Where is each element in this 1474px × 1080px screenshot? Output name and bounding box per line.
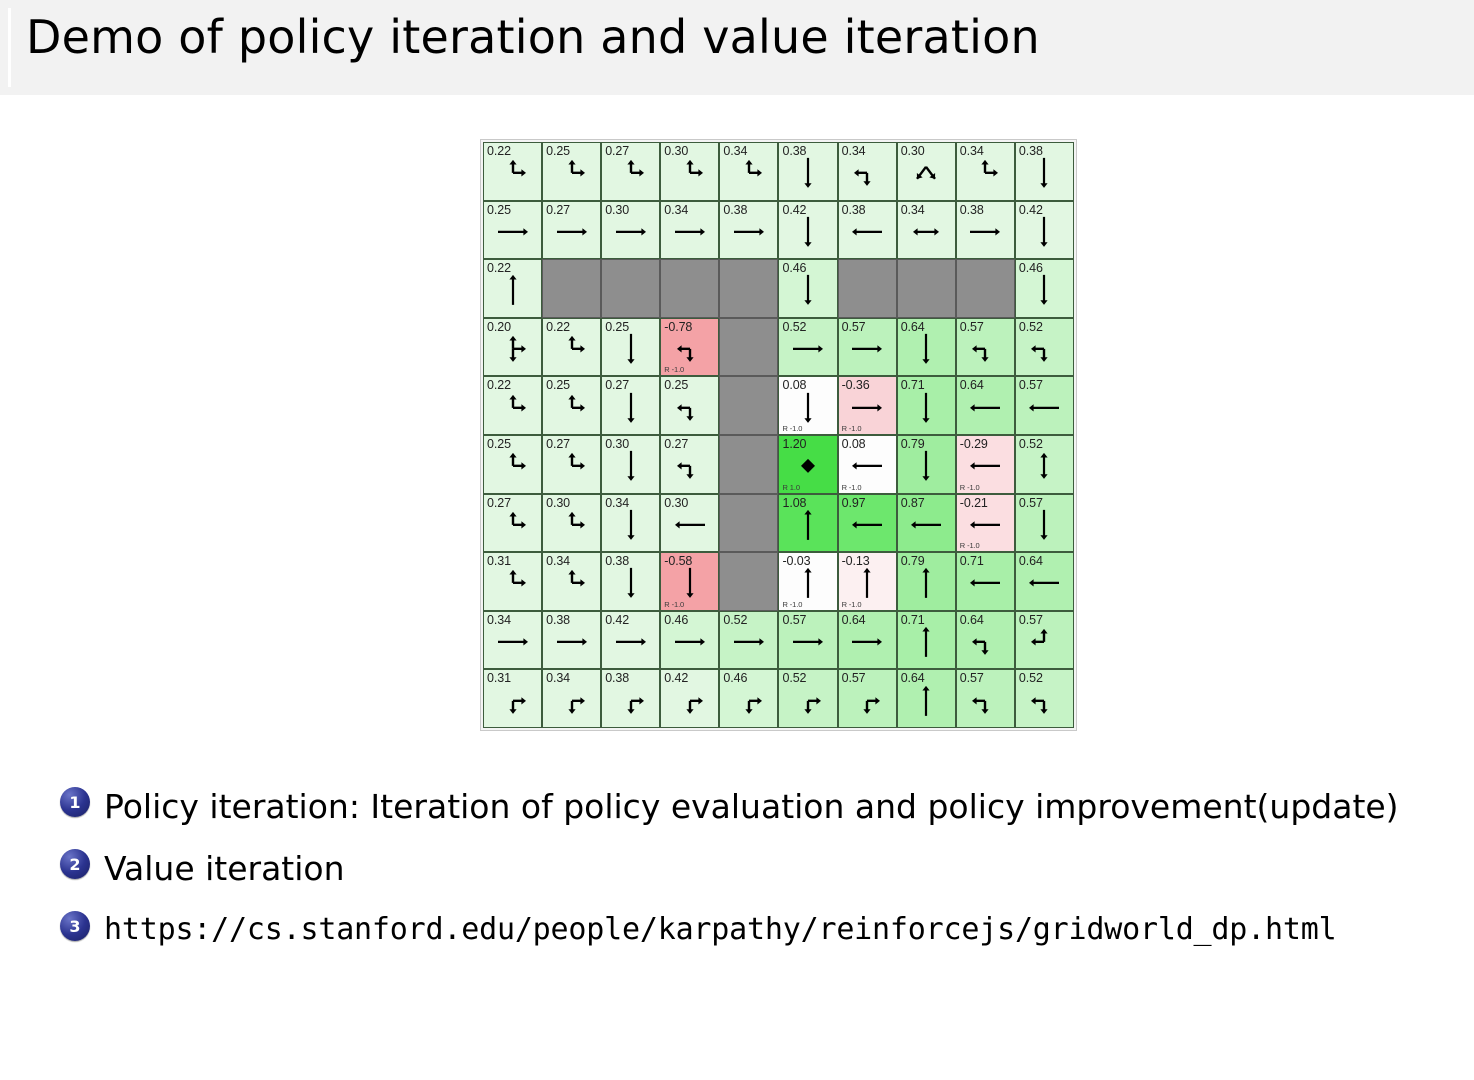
grid-cell[interactable]: 0.79 <box>897 552 956 611</box>
grid-cell[interactable]: -0.36R -1.0 <box>838 376 897 435</box>
grid-cell[interactable]: 0.30 <box>660 142 719 201</box>
cell-value: -0.13 <box>842 554 870 568</box>
cell-reward-label: R -1.0 <box>842 483 862 492</box>
cell-value: 0.31 <box>487 671 511 685</box>
grid-cell[interactable]: -0.13R -1.0 <box>838 552 897 611</box>
cell-value: 0.30 <box>605 437 629 451</box>
grid-cell[interactable]: 0.46 <box>778 259 837 318</box>
cell-value: 0.57 <box>782 613 806 627</box>
list-item: 1Policy iteration: Iteration of policy e… <box>60 778 1460 836</box>
cell-value: 0.25 <box>487 203 511 217</box>
grid-cell[interactable]: 0.42 <box>1015 201 1074 260</box>
cell-value: 0.25 <box>546 144 570 158</box>
cell-value: 0.22 <box>487 261 511 275</box>
grid-cell[interactable]: 0.64 <box>956 611 1015 670</box>
cell-value: 0.42 <box>782 203 806 217</box>
grid-cell[interactable]: 0.34 <box>542 669 601 728</box>
grid-cell[interactable]: -0.58R -1.0 <box>660 552 719 611</box>
cell-value: -0.29 <box>960 437 988 451</box>
gridworld-grid[interactable]: 0.220.250.270.300.340.380.340.300.340.38… <box>483 142 1074 728</box>
grid-cell[interactable]: 0.46 <box>660 611 719 670</box>
grid-cell[interactable]: -0.78R -1.0 <box>660 318 719 377</box>
cell-value: 0.57 <box>1019 378 1043 392</box>
grid-cell[interactable]: 0.64 <box>897 318 956 377</box>
cell-value: 0.52 <box>1019 437 1043 451</box>
grid-cell[interactable]: 0.57 <box>956 318 1015 377</box>
grid-cell[interactable]: 0.46 <box>1015 259 1074 318</box>
cell-value: 0.57 <box>842 671 866 685</box>
cell-value: -0.03 <box>782 554 810 568</box>
cell-reward-label: R -1.0 <box>664 365 684 374</box>
grid-cell[interactable]: 0.57 <box>778 611 837 670</box>
cell-value: 0.64 <box>901 671 925 685</box>
cell-value: 0.79 <box>901 554 925 568</box>
cell-value: 0.30 <box>664 496 688 510</box>
grid-cell-wall[interactable] <box>719 435 778 494</box>
cell-value: 0.57 <box>1019 496 1043 510</box>
gridworld-visualization[interactable]: 0.220.250.270.300.340.380.340.300.340.38… <box>480 139 1077 731</box>
grid-cell[interactable]: 0.22 <box>483 142 542 201</box>
grid-cell[interactable]: 0.52 <box>1015 435 1074 494</box>
grid-cell[interactable]: 0.79 <box>897 435 956 494</box>
cell-value: 0.52 <box>1019 320 1043 334</box>
cell-value: 0.30 <box>605 203 629 217</box>
grid-cell[interactable]: 0.25 <box>660 376 719 435</box>
grid-cell[interactable]: 0.87 <box>897 494 956 553</box>
cell-value: -0.58 <box>664 554 692 568</box>
cell-value: 0.87 <box>901 496 925 510</box>
cell-value: 0.25 <box>605 320 629 334</box>
grid-cell[interactable]: 0.27 <box>542 201 601 260</box>
cell-value: 0.27 <box>664 437 688 451</box>
cell-value: 0.31 <box>487 554 511 568</box>
grid-cell[interactable]: 0.38 <box>601 669 660 728</box>
grid-cell[interactable]: 0.57 <box>1015 494 1074 553</box>
grid-cell[interactable]: 0.57 <box>1015 376 1074 435</box>
cell-value: 0.42 <box>1019 203 1043 217</box>
cell-reward-label: R -1.0 <box>782 600 802 609</box>
cell-reward-label: R -1.0 <box>960 541 980 550</box>
cell-value: -0.21 <box>960 496 988 510</box>
grid-cell-wall[interactable] <box>601 259 660 318</box>
list-item: 2Value iteration <box>60 840 1460 898</box>
cell-value: 0.46 <box>1019 261 1043 275</box>
cell-value: 0.38 <box>605 671 629 685</box>
cell-value: 0.38 <box>960 203 984 217</box>
grid-cell[interactable]: 0.27 <box>601 142 660 201</box>
cell-value: 0.42 <box>664 671 688 685</box>
grid-cell[interactable]: 0.52 <box>778 318 837 377</box>
cell-value: 0.71 <box>960 554 984 568</box>
grid-cell[interactable]: 0.38 <box>542 611 601 670</box>
cell-value: 0.27 <box>546 437 570 451</box>
bullet-text: Value iteration <box>104 840 345 898</box>
cell-value: 0.08 <box>842 437 866 451</box>
grid-cell[interactable]: 0.31 <box>483 552 542 611</box>
grid-cell[interactable]: 0.25 <box>542 142 601 201</box>
cell-value: 0.34 <box>664 203 688 217</box>
grid-cell[interactable]: 0.57 <box>956 669 1015 728</box>
grid-cell[interactable]: 0.42 <box>778 201 837 260</box>
grid-cell[interactable]: 0.08R -1.0 <box>778 376 837 435</box>
grid-cell[interactable]: 0.27 <box>483 494 542 553</box>
grid-cell[interactable]: 0.30 <box>542 494 601 553</box>
grid-cell[interactable]: 0.31 <box>483 669 542 728</box>
bullet-number-badge: 2 <box>60 849 90 879</box>
grid-cell-wall[interactable] <box>660 259 719 318</box>
cell-value: 0.38 <box>782 144 806 158</box>
list-item: 3https://cs.stanford.edu/people/karpathy… <box>60 902 1460 958</box>
grid-cell[interactable]: 0.25 <box>542 376 601 435</box>
grid-cell[interactable]: 0.22 <box>542 318 601 377</box>
grid-cell[interactable]: 0.71 <box>897 376 956 435</box>
grid-cell-wall[interactable] <box>719 318 778 377</box>
bullet-number-badge: 3 <box>60 911 90 941</box>
grid-cell[interactable]: 0.38 <box>778 142 837 201</box>
cell-reward-label: R -1.0 <box>960 483 980 492</box>
cell-value: 1.20 <box>782 437 806 451</box>
cell-value: 0.57 <box>960 671 984 685</box>
cell-value: 1.08 <box>782 496 806 510</box>
cell-value: 0.34 <box>605 496 629 510</box>
grid-cell[interactable]: 0.57 <box>838 669 897 728</box>
cell-value: 0.42 <box>605 613 629 627</box>
grid-cell[interactable]: 0.34 <box>897 201 956 260</box>
cell-value: 0.64 <box>1019 554 1043 568</box>
grid-cell[interactable]: 0.25 <box>483 201 542 260</box>
cell-value: 0.57 <box>842 320 866 334</box>
cell-value: 0.34 <box>842 144 866 158</box>
grid-cell[interactable]: 0.30 <box>601 201 660 260</box>
grid-cell[interactable]: 0.34 <box>956 142 1015 201</box>
cell-value: 0.38 <box>842 203 866 217</box>
cell-value: 0.25 <box>546 378 570 392</box>
cell-value: 0.27 <box>605 378 629 392</box>
grid-cell[interactable]: 0.30 <box>897 142 956 201</box>
grid-cell[interactable]: 0.38 <box>838 201 897 260</box>
grid-cell[interactable]: 0.64 <box>956 376 1015 435</box>
grid-cell[interactable]: 0.34 <box>601 494 660 553</box>
cell-value: 0.57 <box>1019 613 1043 627</box>
cell-value: 0.25 <box>487 437 511 451</box>
grid-cell[interactable]: 0.25 <box>483 435 542 494</box>
cell-value: 0.38 <box>723 203 747 217</box>
cell-value: -0.36 <box>842 378 870 392</box>
cell-value: 0.34 <box>546 671 570 685</box>
grid-cell[interactable]: 1.08 <box>778 494 837 553</box>
cell-value: 0.22 <box>487 378 511 392</box>
grid-cell[interactable]: 0.52 <box>719 611 778 670</box>
cell-reward-label: R -1.0 <box>842 600 862 609</box>
grid-cell[interactable]: 0.30 <box>660 494 719 553</box>
bullet-link-text[interactable]: https://cs.stanford.edu/people/karpathy/… <box>104 902 1336 958</box>
cell-value: 0.30 <box>546 496 570 510</box>
grid-cell[interactable]: 1.20R 1.0 <box>778 435 837 494</box>
cell-value: 0.64 <box>960 613 984 627</box>
cell-value: 0.38 <box>546 613 570 627</box>
grid-cell[interactable]: 0.22 <box>483 376 542 435</box>
grid-cell-wall[interactable] <box>719 552 778 611</box>
cell-value: 0.52 <box>1019 671 1043 685</box>
cell-value: 0.52 <box>782 320 806 334</box>
grid-cell[interactable]: 0.34 <box>838 142 897 201</box>
cell-value: 0.27 <box>546 203 570 217</box>
grid-cell-wall[interactable] <box>719 494 778 553</box>
slide-title-bar: Demo of policy iteration and value itera… <box>0 0 1474 95</box>
cell-value: 0.08 <box>782 378 806 392</box>
cell-value: 0.27 <box>605 144 629 158</box>
grid-cell-wall[interactable] <box>542 259 601 318</box>
grid-cell[interactable]: 0.22 <box>483 259 542 318</box>
grid-cell[interactable]: -0.21R -1.0 <box>956 494 1015 553</box>
grid-cell[interactable]: 0.38 <box>719 201 778 260</box>
cell-value: 0.34 <box>960 144 984 158</box>
title-left-rule <box>8 8 11 87</box>
cell-value: -0.78 <box>664 320 692 334</box>
cell-value: 0.38 <box>605 554 629 568</box>
cell-value: 0.46 <box>782 261 806 275</box>
bullet-number-badge: 1 <box>60 787 90 817</box>
grid-cell[interactable]: -0.03R -1.0 <box>778 552 837 611</box>
cell-value: 0.46 <box>723 671 747 685</box>
cell-reward-label: R -1.0 <box>842 424 862 433</box>
cell-value: 0.71 <box>901 613 925 627</box>
grid-cell[interactable]: 0.34 <box>483 611 542 670</box>
grid-cell-wall[interactable] <box>719 259 778 318</box>
cell-value: 0.71 <box>901 378 925 392</box>
grid-cell[interactable]: -0.29R -1.0 <box>956 435 1015 494</box>
grid-cell[interactable]: 0.38 <box>956 201 1015 260</box>
grid-cell[interactable]: 0.71 <box>897 611 956 670</box>
grid-cell[interactable]: 0.38 <box>601 552 660 611</box>
cell-value: 0.38 <box>1019 144 1043 158</box>
grid-cell[interactable]: 0.27 <box>660 435 719 494</box>
grid-cell-wall[interactable] <box>719 376 778 435</box>
grid-cell[interactable]: 0.08R -1.0 <box>838 435 897 494</box>
grid-cell[interactable]: 0.46 <box>719 669 778 728</box>
grid-cell[interactable]: 0.97 <box>838 494 897 553</box>
cell-value: 0.57 <box>960 320 984 334</box>
page-title: Demo of policy iteration and value itera… <box>26 10 1040 64</box>
cell-value: 0.64 <box>842 613 866 627</box>
grid-cell[interactable]: 0.27 <box>542 435 601 494</box>
grid-cell[interactable]: 0.20 <box>483 318 542 377</box>
grid-cell[interactable]: 0.38 <box>1015 142 1074 201</box>
cell-value: 0.34 <box>723 144 747 158</box>
grid-cell[interactable]: 0.57 <box>1015 611 1074 670</box>
cell-value: 0.25 <box>664 378 688 392</box>
cell-value: 0.79 <box>901 437 925 451</box>
grid-cell[interactable]: 0.25 <box>601 318 660 377</box>
cell-value: 0.64 <box>960 378 984 392</box>
grid-cell[interactable]: 0.64 <box>838 611 897 670</box>
bullet-text: Policy iteration: Iteration of policy ev… <box>104 778 1399 836</box>
cell-value: 0.34 <box>901 203 925 217</box>
cell-reward-label: R -1.0 <box>782 424 802 433</box>
grid-cell[interactable]: 0.27 <box>601 376 660 435</box>
grid-cell[interactable]: 0.34 <box>719 142 778 201</box>
cell-value: 0.27 <box>487 496 511 510</box>
grid-cell-wall[interactable] <box>897 259 956 318</box>
cell-value: 0.22 <box>487 144 511 158</box>
cell-reward-label: R 1.0 <box>782 483 799 492</box>
cell-value: 0.46 <box>664 613 688 627</box>
grid-cell[interactable]: 0.34 <box>660 201 719 260</box>
grid-cell-wall[interactable] <box>956 259 1015 318</box>
cell-value: 0.97 <box>842 496 866 510</box>
grid-cell[interactable]: 0.64 <box>897 669 956 728</box>
cell-reward-label: R -1.0 <box>664 600 684 609</box>
grid-cell[interactable]: 0.42 <box>601 611 660 670</box>
cell-value: 0.20 <box>487 320 511 334</box>
grid-cell[interactable]: 0.52 <box>778 669 837 728</box>
cell-value: 0.30 <box>901 144 925 158</box>
grid-cell[interactable]: 0.64 <box>1015 552 1074 611</box>
grid-cell-wall[interactable] <box>838 259 897 318</box>
grid-cell[interactable]: 0.52 <box>1015 669 1074 728</box>
cell-value: 0.52 <box>782 671 806 685</box>
cell-value: 0.64 <box>901 320 925 334</box>
cell-value: 0.34 <box>546 554 570 568</box>
bullet-list: 1Policy iteration: Iteration of policy e… <box>60 778 1460 962</box>
cell-value: 0.34 <box>487 613 511 627</box>
cell-value: 0.30 <box>664 144 688 158</box>
grid-cell[interactable]: 0.71 <box>956 552 1015 611</box>
grid-cell[interactable]: 0.30 <box>601 435 660 494</box>
grid-cell[interactable]: 0.42 <box>660 669 719 728</box>
grid-cell[interactable]: 0.57 <box>838 318 897 377</box>
cell-value: 0.22 <box>546 320 570 334</box>
cell-value: 0.52 <box>723 613 747 627</box>
grid-cell[interactable]: 0.34 <box>542 552 601 611</box>
grid-cell[interactable]: 0.52 <box>1015 318 1074 377</box>
